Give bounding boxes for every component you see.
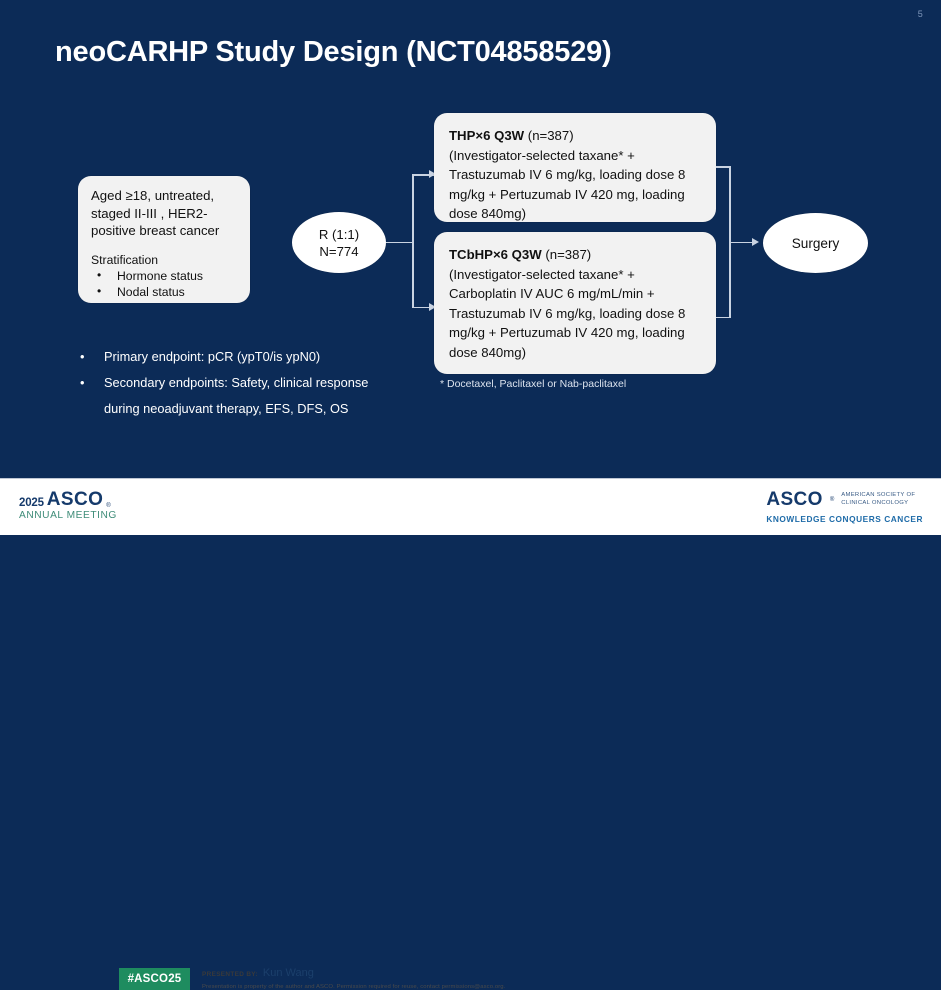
asco-society-wordmark: ASCO bbox=[766, 489, 823, 511]
list-item: Hormone status bbox=[91, 268, 238, 284]
registered-icon: ® bbox=[830, 497, 834, 503]
stratification-list: Hormone status Nodal status bbox=[91, 268, 238, 300]
primary-endpoint: Primary endpoint: pCR (ypT0/is ypN0) bbox=[76, 344, 416, 370]
asco-society-subtitle-2: CLINICAL ONCOLOGY bbox=[841, 500, 915, 508]
surgery-node: Surgery bbox=[763, 213, 868, 273]
presented-by-label: PRESENTED BY: bbox=[202, 971, 258, 978]
arrowhead-surgery-icon bbox=[752, 238, 759, 246]
page-title: neoCARHP Study Design (NCT04858529) bbox=[55, 36, 612, 69]
eligibility-line-1: Aged ≥18, untreated, bbox=[91, 187, 238, 205]
presenter-block: PRESENTED BY: Kun Wang Presentation is p… bbox=[202, 967, 505, 990]
arm-a-n: (n=387) bbox=[528, 128, 574, 143]
connector-from-arm-b bbox=[716, 317, 730, 319]
asco-society-logo: ASCO ® AMERICAN SOCIETY OF CLINICAL ONCO… bbox=[766, 489, 923, 524]
trademark-icon: ® bbox=[106, 503, 110, 509]
asco-logo-subtitle: ANNUAL MEETING bbox=[19, 511, 117, 521]
presenter-name: Kun Wang bbox=[263, 967, 314, 979]
arm-a-detail: (Investigator-selected taxane* + Trastuz… bbox=[449, 148, 685, 222]
asco-logo-wordmark: ASCO bbox=[47, 490, 104, 509]
slide-number: 5 bbox=[918, 9, 923, 19]
connector-randomization-stub bbox=[386, 242, 413, 244]
randomization-total: N=774 bbox=[319, 243, 358, 260]
slide-footer: 2025 ASCO ® ANNUAL MEETING #ASCO25 PRESE… bbox=[0, 478, 941, 535]
asco-logo-year: 2025 bbox=[19, 498, 44, 510]
connector-from-arm-a bbox=[716, 166, 730, 168]
permission-notice: Presentation is property of the author a… bbox=[202, 984, 505, 990]
arm-b-name: TCbHP×6 Q3W bbox=[449, 247, 542, 262]
list-item: Nodal status bbox=[91, 284, 238, 300]
connector-split-vertical bbox=[412, 175, 414, 308]
hashtag-badge: #ASCO25 bbox=[119, 968, 190, 990]
stratification-label: Stratification bbox=[91, 252, 238, 268]
arm-a-name: THP×6 Q3W bbox=[449, 128, 524, 143]
asco-society-subtitle-1: AMERICAN SOCIETY OF bbox=[841, 492, 915, 500]
asco-annual-meeting-logo: 2025 ASCO ® ANNUAL MEETING bbox=[19, 490, 117, 521]
eligibility-line-3: positive breast cancer bbox=[91, 222, 238, 240]
secondary-endpoint-continued: during neoadjuvant therapy, EFS, DFS, OS bbox=[76, 396, 416, 422]
arm-b-detail: (Investigator-selected taxane* + Carbopl… bbox=[449, 267, 685, 360]
secondary-endpoint: Secondary endpoints: Safety, clinical re… bbox=[76, 370, 416, 396]
eligibility-line-2: staged II-III , HER2- bbox=[91, 205, 238, 223]
slide-canvas: 5 neoCARHP Study Design (NCT04858529) Ag… bbox=[0, 0, 941, 535]
asco-tagline: KNOWLEDGE CONQUERS CANCER bbox=[766, 514, 923, 524]
randomization-node: R (1:1) N=774 bbox=[292, 212, 386, 273]
surgery-label: Surgery bbox=[792, 236, 840, 251]
arm-b-text: TCbHP×6 Q3W (n=387)(Investigator-selecte… bbox=[449, 245, 702, 363]
footer-divider bbox=[0, 478, 941, 479]
randomization-ratio: R (1:1) bbox=[319, 226, 359, 243]
arm-b-n: (n=387) bbox=[545, 247, 591, 262]
treatment-arm-b-box: TCbHP×6 Q3W (n=387)(Investigator-selecte… bbox=[434, 232, 716, 374]
eligibility-box: Aged ≥18, untreated, staged II-III , HER… bbox=[78, 176, 250, 303]
treatment-arm-a-box: THP×6 Q3W (n=387)(Investigator-selected … bbox=[434, 113, 716, 222]
taxane-footnote: * Docetaxel, Paclitaxel or Nab-paclitaxe… bbox=[440, 378, 626, 390]
arm-a-text: THP×6 Q3W (n=387)(Investigator-selected … bbox=[449, 126, 702, 224]
endpoints-list: Primary endpoint: pCR (ypT0/is ypN0) Sec… bbox=[76, 344, 416, 422]
